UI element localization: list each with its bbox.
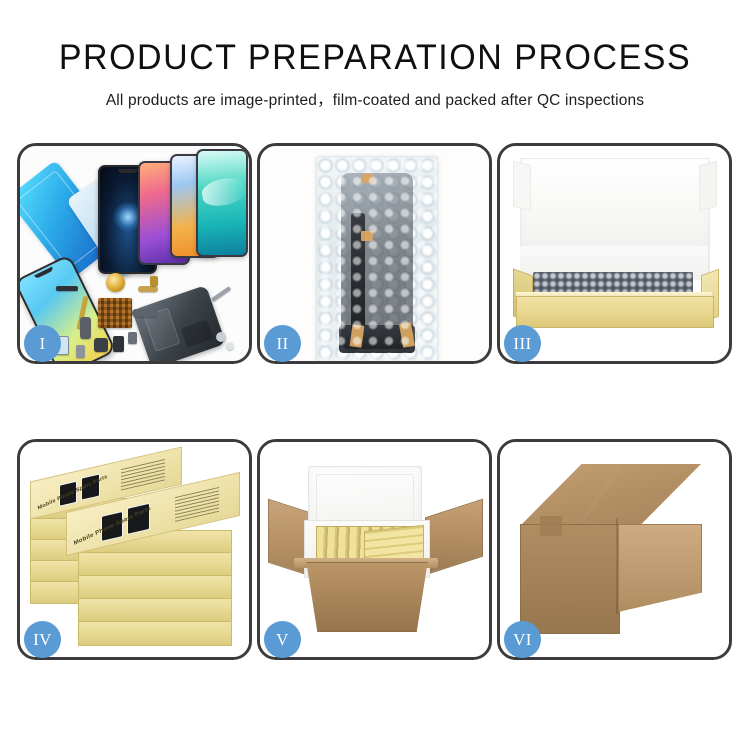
step-badge-6: VI [504,621,541,658]
step-badge-5: V [264,621,301,658]
carton-front-icon [298,562,436,632]
step-panel-6: VI [497,439,732,660]
component-icon [94,338,108,352]
step-panel-2: II [257,143,492,364]
screw-icon [216,332,226,342]
printed-spec-text [121,458,165,490]
speaker-coil-icon [106,273,125,292]
carton-side-face-icon [618,524,702,612]
box-side-icon [78,575,232,600]
printed-spec-text [175,486,219,522]
step-panel-3: III [497,143,732,364]
logic-board-chip-icon [98,298,132,328]
phone-display-teal-icon [196,149,248,257]
steps-grid: I II [17,143,733,660]
component-icon [56,286,78,291]
step-badge-1: I [24,325,61,362]
carton-edge-icon [616,518,618,614]
step-panel-1: I [17,143,252,364]
step-badge-2: II [264,325,301,362]
box-side-icon [78,598,232,623]
component-icon [76,345,85,358]
step-badge-3: III [504,325,541,362]
tape-icon [540,516,562,536]
header: PRODUCT PREPARATION PROCESS All products… [0,0,750,110]
component-icon [138,286,158,292]
stacked-boxes-icon: Mobile Phone Spare Parts Mobile Phone Sp… [26,460,246,646]
box-side-icon [78,621,232,646]
tape-icon [556,602,578,616]
bubble-wrap-bag-icon [316,156,438,361]
component-icon [150,276,158,286]
page-subtitle: All products are image-printed，film-coat… [0,77,750,110]
carton-front-face-icon [520,524,620,634]
product-preparation-infographic: PRODUCT PREPARATION PROCESS All products… [0,0,750,750]
step-panel-4: Mobile Phone Spare Parts Mobile Phone Sp… [17,439,252,660]
tape-icon [361,174,374,183]
component-icon [132,309,158,317]
tape-icon [361,231,373,241]
box-front-icon [516,296,714,328]
step-panel-5: V [257,439,492,660]
page-title: PRODUCT PREPARATION PROCESS [11,0,739,77]
component-icon [113,336,124,352]
component-icon [80,317,91,339]
step-badge-4: IV [24,621,61,658]
tweezers-icon [211,286,231,302]
box-side-icon [78,552,232,577]
component-icon [128,332,137,344]
screw-icon [226,342,234,350]
